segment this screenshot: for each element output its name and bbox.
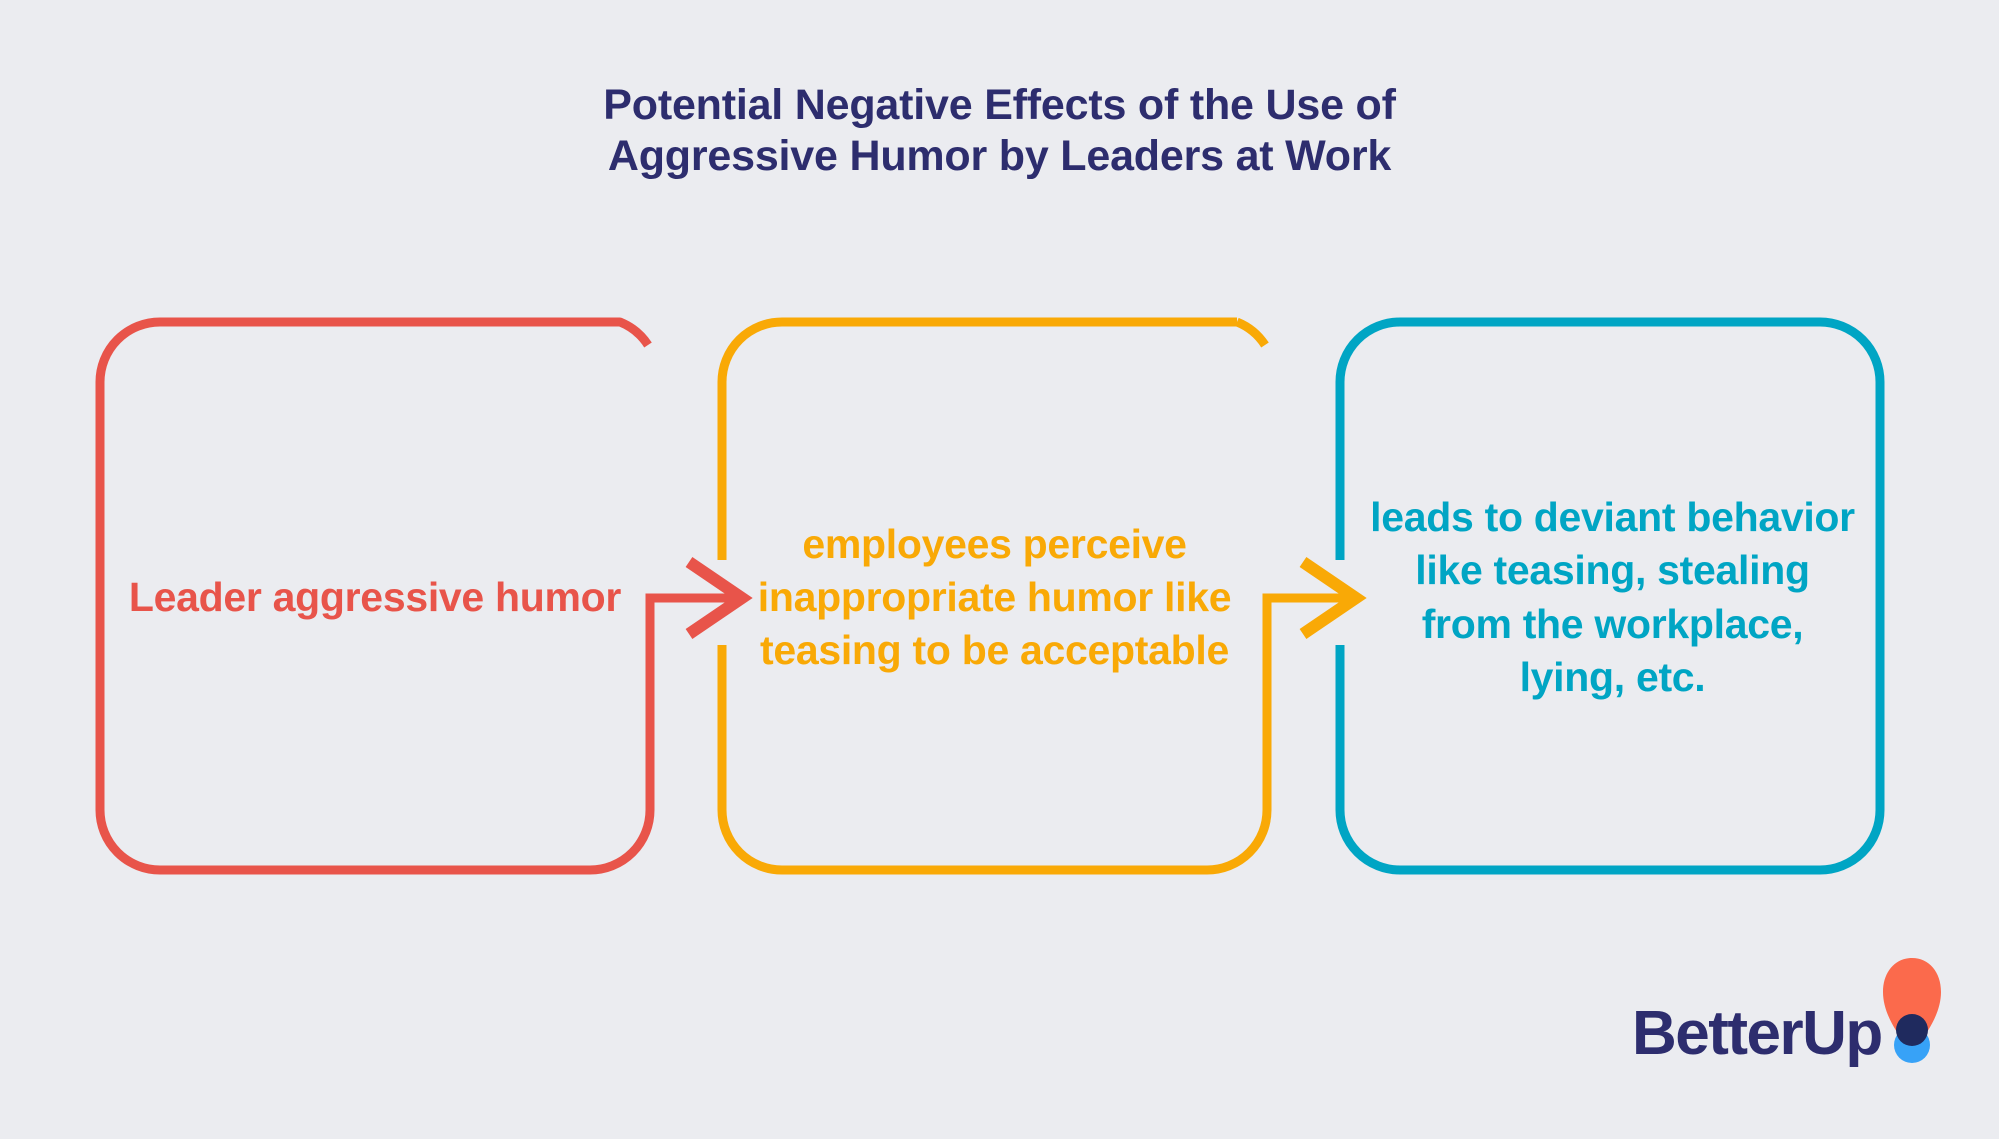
infographic-canvas: Potential Negative Effects of the Use of… [0,0,1999,1139]
navy-dot [1896,1014,1928,1046]
betterup-wordmark: BetterUp [1632,1003,1882,1065]
step-box-2-label: employees perceive inappropriate humor l… [722,325,1267,870]
betterup-logo: BetterUp [1632,955,1952,1085]
step-box-3-label: leads to deviant behavior like teasing, … [1340,325,1885,870]
step-box-1-label: Leader aggressive humor [100,325,650,870]
betterup-mark-icon [1879,955,1945,1065]
